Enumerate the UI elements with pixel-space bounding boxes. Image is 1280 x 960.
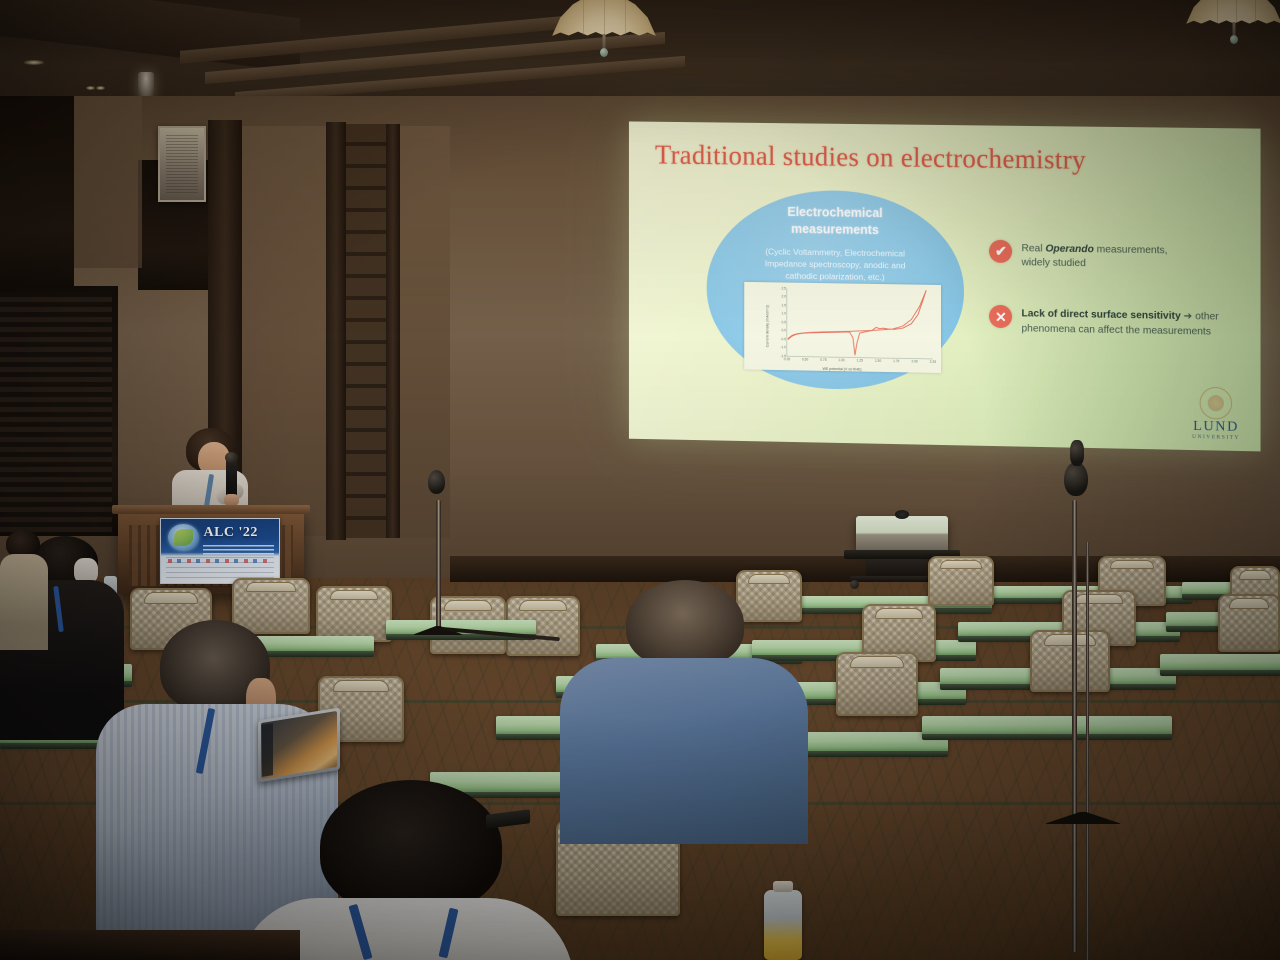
attendee-hair-5 <box>626 580 744 668</box>
louvered-door <box>0 292 112 532</box>
chart-xtick: 2.25 <box>930 359 936 364</box>
table-row4-right <box>922 716 1172 735</box>
microphone-head-right <box>1064 462 1088 496</box>
cart-caster-left <box>850 580 859 589</box>
table-row3-far-right <box>1160 654 1280 671</box>
presentation-slide: Traditional studies on electrochemistry … <box>629 121 1261 451</box>
bubble-heading: Electrochemical measurements <box>727 203 943 240</box>
wall-column-3 <box>386 124 400 538</box>
bubble-subtext-line1: (Cyclic Voltammetry, Electrochemical <box>765 246 905 258</box>
bullet-negative-text: Lack of direct surface sensitivity ➔ oth… <box>1022 305 1219 340</box>
bubble-subtext: (Cyclic Voltammetry, Electrochemical Imp… <box>719 244 951 284</box>
cross-icon: ✕ <box>989 305 1012 328</box>
lund-logo-sub: UNIVERSITY <box>1192 434 1240 441</box>
laptop[interactable] <box>258 708 340 783</box>
plastic-bottle[interactable] <box>764 890 802 960</box>
chair-row3-a <box>836 652 918 716</box>
chart-xtick: 1.00 <box>838 357 844 362</box>
bullet0-post: measurements, <box>1094 244 1168 256</box>
track-spotlight-small <box>24 60 44 65</box>
bubble-heading-line2: measurements <box>791 222 879 237</box>
chart-xtick: 1.75 <box>893 358 899 363</box>
bubble-heading-line1: Electrochemical <box>787 205 882 220</box>
room-background: Traditional studies on electrochemistry … <box>0 0 1280 960</box>
conference-room-photo: Traditional studies on electrochemistry … <box>0 0 1280 960</box>
microphone-head <box>225 452 238 463</box>
microphone-stand-pole-left <box>436 500 441 634</box>
bubble-subtext-line2: Impedance spectroscopy, anodic and <box>765 258 906 270</box>
bullet1-line2: phenomena can affect the measurements <box>1022 323 1212 337</box>
pendant-lamp-right <box>1186 0 1280 24</box>
laptop-sidebar <box>262 723 273 777</box>
chair-row2-d <box>1218 594 1280 652</box>
audience-member-beige <box>0 530 52 650</box>
microphone-clip-right <box>1070 440 1084 466</box>
ceiling-speaker-box <box>138 72 154 98</box>
electrochemical-measurements-bubble: Electrochemical measurements (Cyclic Vol… <box>707 189 964 391</box>
chart-ytick: 1.5 <box>781 303 787 307</box>
chart-ytick: 2.0 <box>781 295 787 299</box>
alc-logo-icon <box>168 524 199 551</box>
lectern-top <box>112 505 310 514</box>
cyclic-voltammogram-chart: Current density (mA/cm^2) WE potential (… <box>744 282 941 372</box>
track-spotlight-tiny-2 <box>96 86 105 90</box>
bullet0-line2: widely studied <box>1022 258 1086 270</box>
cv-curve-svg <box>787 288 933 358</box>
chart-xtick: 1.50 <box>875 358 881 363</box>
chart-ylabel: Current density (mA/cm^2) <box>765 305 769 347</box>
attendee-torso-5 <box>560 658 808 844</box>
lund-seal-icon <box>1200 387 1232 420</box>
chart-ytick: -0.5 <box>780 337 787 341</box>
chart-ytick: 1.0 <box>781 312 787 316</box>
wall-column-2 <box>326 122 346 540</box>
left-wall-recess <box>0 96 74 286</box>
chart-ytick: 2.5 <box>781 286 787 290</box>
screen-surface: Traditional studies on electrochemistry … <box>629 121 1261 451</box>
chart-ytick: 0.0 <box>781 328 787 332</box>
projector <box>856 516 948 552</box>
bullet-positive-text: Real Operando measurements, widely studi… <box>1022 240 1168 274</box>
wall-speaker <box>158 126 206 202</box>
lund-logo-name: LUND <box>1192 420 1240 435</box>
track-spotlight-tiny <box>86 86 95 90</box>
attendee-torso-2 <box>0 554 48 650</box>
chair-row3-b <box>1030 630 1110 692</box>
check-icon: ✔ <box>989 239 1012 262</box>
audience-member-blue-shirt <box>560 580 810 840</box>
bullet1-post: ➔ other <box>1181 311 1219 323</box>
event-banner-sponsor-logos <box>168 559 272 563</box>
chart-ytick: 0.5 <box>781 320 787 324</box>
bullet-positive: ✔ Real Operando measurements, widely stu… <box>989 239 1241 274</box>
chart-xtick: 2.00 <box>911 358 917 363</box>
chair-back-2 <box>928 556 994 606</box>
chart-xtick: 0.75 <box>820 357 826 362</box>
bullet0-pre: Real <box>1022 243 1046 254</box>
bubble-subtext-line3: cathodic polarization, etc.) <box>785 270 884 282</box>
chart-xtick: 0.50 <box>802 356 808 361</box>
projector-body <box>856 516 948 552</box>
wall-panel-left <box>74 96 142 268</box>
wall-grille <box>346 124 386 538</box>
bullet0-em: Operando <box>1045 243 1093 255</box>
chart-ytick: -1.0 <box>780 345 787 349</box>
chart-xlabel: WE potential (V vs RHE) <box>744 365 941 373</box>
bottle-cap <box>773 881 793 892</box>
chart-xtick: 0.25 <box>784 356 790 361</box>
cv-series-1 <box>788 288 926 340</box>
lund-university-logo: LUND UNIVERSITY <box>1192 387 1240 441</box>
microphone-head-left <box>428 470 445 494</box>
projection-screen: Traditional studies on electrochemistry … <box>629 121 1261 451</box>
pendant-lamp <box>552 0 656 36</box>
attendee-hair-4 <box>320 780 502 914</box>
event-banner: ALC '22 <box>160 518 280 584</box>
bullet1-em: Lack of direct surface sensitivity <box>1022 308 1181 322</box>
microphone-stand-strut-right <box>1086 542 1089 960</box>
slide-title: Traditional studies on electrochemistry <box>655 139 1086 175</box>
cv-series-0 <box>788 288 926 356</box>
chart-plot-area: 2.52.01.51.00.50.0-0.5-1.0-1.50.250.500.… <box>787 288 933 358</box>
event-banner-subtitle-lines <box>203 545 274 557</box>
event-banner-title: ALC '22 <box>203 525 257 541</box>
front-table-edge <box>0 930 300 960</box>
bullet-negative: ✕ Lack of direct surface sensitivity ➔ o… <box>989 305 1247 341</box>
chart-xtick: 1.25 <box>857 357 863 362</box>
microphone-stand-pole-right <box>1072 500 1077 952</box>
